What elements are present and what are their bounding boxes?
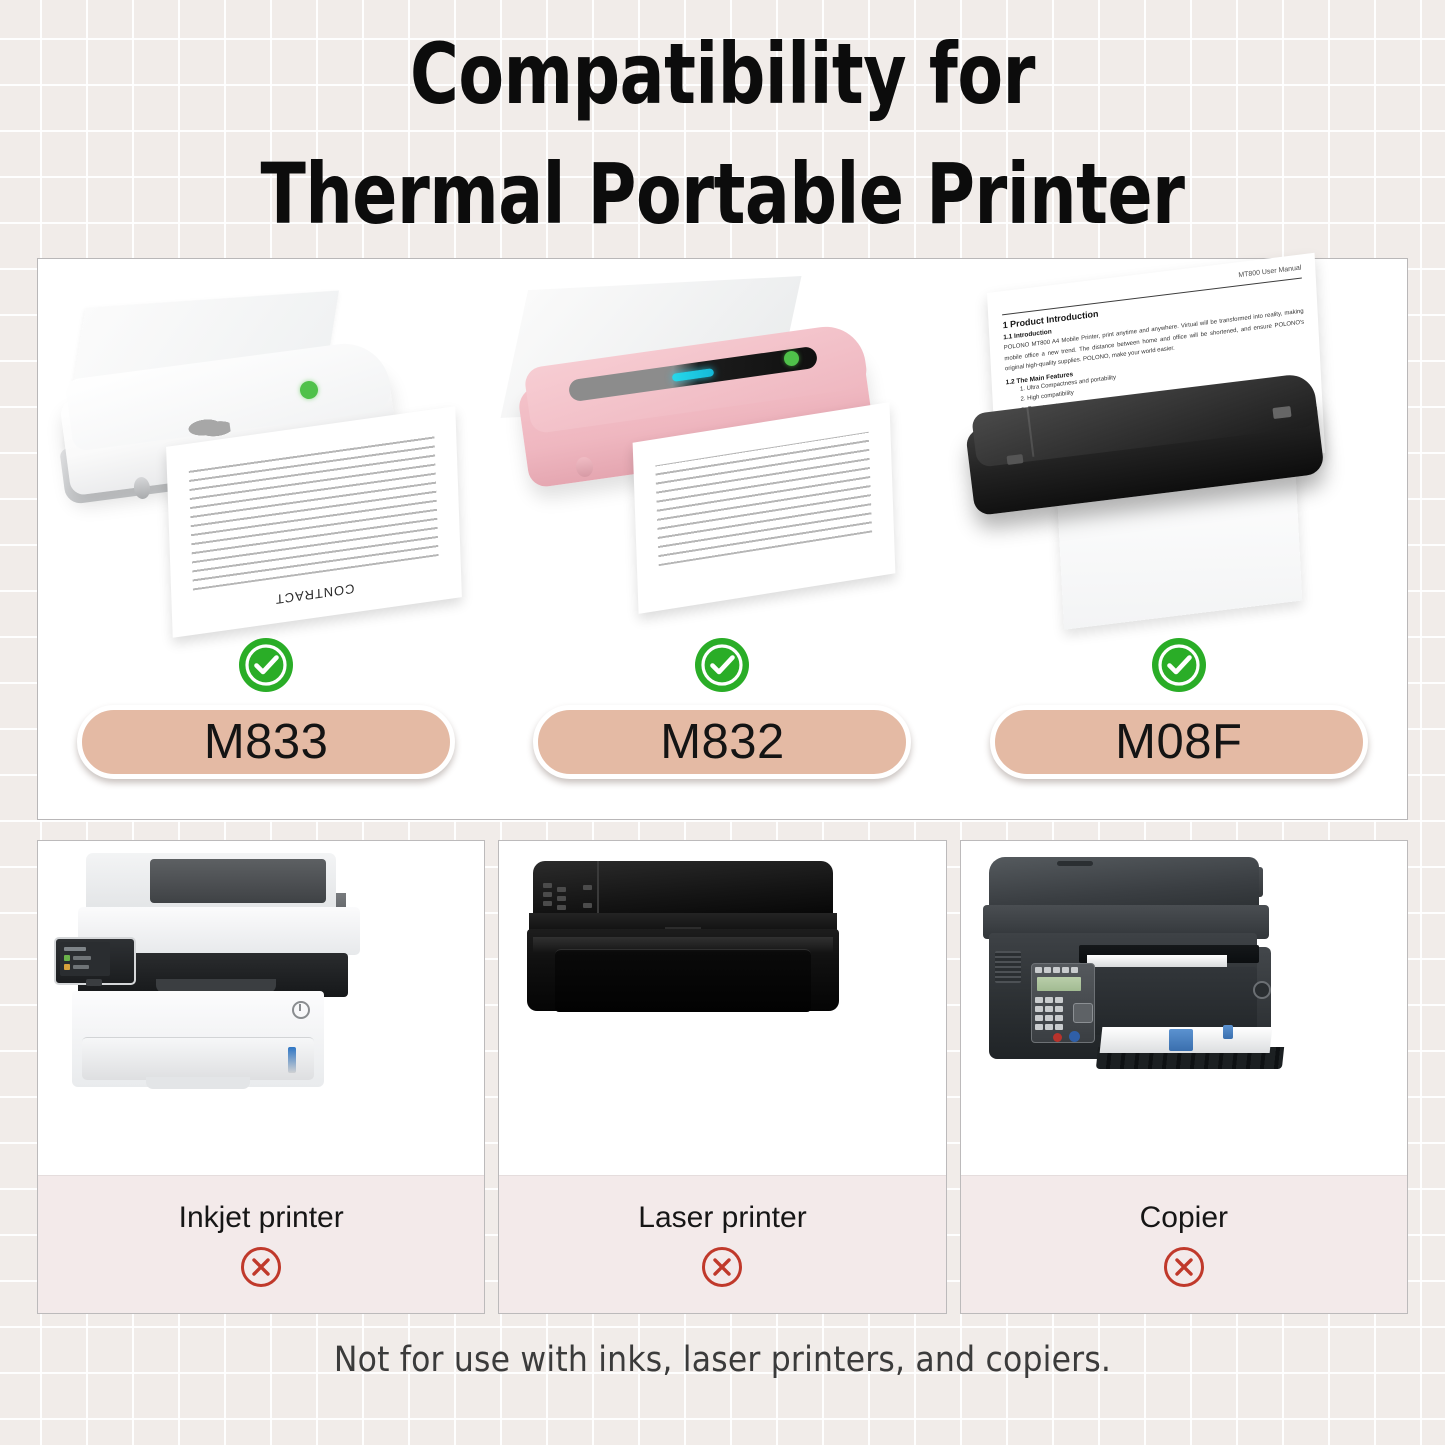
paper-guide-icon — [1223, 1025, 1233, 1039]
side-button-icon — [1272, 406, 1291, 419]
model-pill-label: M08F — [990, 705, 1368, 779]
incompatible-item-laser: Laser printer — [498, 840, 946, 1314]
incompatible-label-band-inkjet: Inkjet printer — [38, 1175, 484, 1313]
cross-circle-icon — [700, 1245, 744, 1289]
soft-key-row — [1035, 967, 1085, 974]
device-image-m833: CONTRACT — [38, 259, 494, 637]
title-line-2: Thermal Portable Printer — [87, 152, 1359, 236]
output-paper — [1087, 955, 1227, 967]
compatible-models-panel: CONTRACT M833 — [37, 258, 1408, 820]
cross-circle-icon — [1162, 1245, 1206, 1289]
device-image-m832 — [494, 259, 950, 637]
lcd-display — [1037, 977, 1081, 991]
printed-document: CONTRACT — [166, 406, 462, 638]
incompatible-item-copier: Copier — [960, 840, 1408, 1314]
device-image-copier — [961, 841, 1407, 1175]
model-badge-m833: M833 — [38, 637, 494, 779]
footer-note: Not for use with inks, laser printers, a… — [0, 1340, 1445, 1380]
compatible-item-m832: M832 — [494, 259, 950, 819]
infographic-page: Compatibility for Thermal Portable Print… — [0, 0, 1445, 1445]
check-circle-icon — [694, 637, 750, 693]
document-title: CONTRACT — [275, 581, 355, 607]
adf-input-tray — [150, 859, 326, 903]
paper-guide-icon — [1169, 1029, 1193, 1051]
page-title: Compatibility for Thermal Portable Print… — [0, 14, 1445, 236]
front-usb-port-icon — [86, 979, 102, 986]
start-button-icon — [1069, 1031, 1080, 1042]
document-text-lines — [189, 435, 439, 590]
incompatible-label-band-copier: Copier — [961, 1175, 1407, 1313]
check-circle-icon — [1151, 637, 1207, 693]
model-badge-m08f: M08F — [951, 637, 1407, 779]
document-text-lines — [656, 432, 873, 566]
paper-cassette — [82, 1037, 314, 1080]
vent-grille — [995, 951, 1021, 983]
check-circle-icon — [238, 637, 294, 693]
adf-ridge — [1057, 861, 1093, 866]
device-image-laser-printer — [499, 841, 945, 1175]
incompatible-item-inkjet: Inkjet printer — [37, 840, 485, 1314]
model-pill-label: M833 — [77, 705, 455, 779]
compatible-item-m08f: MT800 User Manual 1 Product Introduction… — [951, 259, 1407, 819]
device-label: Copier — [1140, 1201, 1228, 1235]
device-label: Inkjet printer — [179, 1201, 344, 1235]
gloss-highlight — [533, 937, 833, 953]
numeric-keypad — [1035, 997, 1075, 1037]
compatible-item-m833: CONTRACT M833 — [38, 259, 494, 819]
usb-port-icon — [1006, 454, 1023, 465]
title-line-1: Compatibility for — [87, 32, 1359, 116]
cross-circle-icon — [239, 1245, 283, 1289]
control-panel-screen — [60, 942, 110, 976]
model-badge-m832: M832 — [494, 637, 950, 779]
model-pill-label: M832 — [533, 705, 911, 779]
device-image-m08f: MT800 User Manual 1 Product Introduction… — [951, 259, 1407, 637]
cassette-grip — [146, 1077, 250, 1089]
paper-tray-slot — [555, 949, 811, 1012]
stop-button-icon — [1053, 1033, 1062, 1042]
button-cluster — [543, 883, 601, 913]
incompatible-label-band-laser: Laser printer — [499, 1175, 945, 1313]
navigation-pad-icon — [1073, 1003, 1093, 1023]
side-knob-icon — [1253, 981, 1271, 999]
power-button-icon — [292, 1001, 310, 1019]
incompatible-devices-row: Inkjet printer — [37, 840, 1408, 1314]
device-image-inkjet-printer — [38, 841, 484, 1175]
device-label: Laser printer — [638, 1201, 806, 1235]
usb-slot-icon — [288, 1047, 296, 1073]
